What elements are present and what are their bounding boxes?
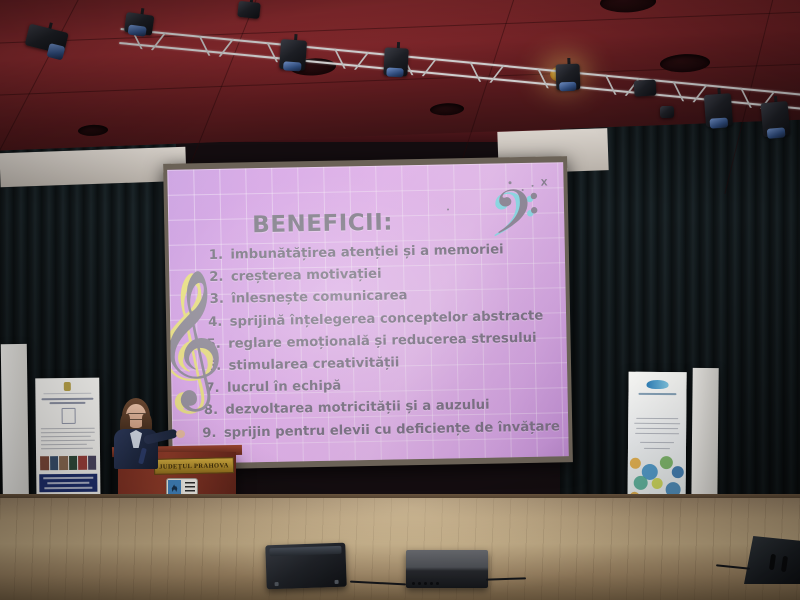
stage-light-fixture [660,100,676,114]
banner-circle-graphic [630,458,641,469]
stage-light-fixture [703,87,736,135]
banner-circle-graphic [672,466,684,478]
conference-hall-photo: BENEFICII: 1. imbunătățirea atenției și … [0,0,800,600]
banner-logo-icon [62,408,76,424]
stage-light-fixture [555,58,582,99]
banner-header-line-1 [41,398,93,400]
presenter-person [104,396,174,466]
banner-logo-icon [647,380,669,389]
stage-light-fixture [287,42,309,66]
stage-light-fixture [760,95,794,145]
stage-light-fixture [237,0,264,25]
stage-monitor-speaker [744,536,800,584]
stage-light-fixture [633,73,658,98]
slide-lighting-vignette [167,162,569,464]
amplifier-rack [406,550,488,588]
banner-logo-caption [638,393,676,395]
stage-light-fixture [123,6,157,44]
banner-circle-graphic [652,478,663,489]
banner-header-line-2 [49,402,85,404]
flipchart-panel-right [691,368,718,510]
banner-title-band [39,474,97,493]
banner-photo-strip [40,456,96,471]
stage-light-fixture [383,41,411,84]
banner-crest-icon [64,382,71,391]
wall-panel-upper-left [0,147,187,187]
projection-screen: BENEFICII: 1. imbunătățirea atenției și … [163,156,573,470]
presentation-slide: BENEFICII: 1. imbunătățirea atenției și … [167,162,569,464]
presenter-hand [176,430,185,438]
banner-circle-graphic [660,456,673,469]
banner-circle-graphic [634,476,648,490]
flight-case [265,543,346,590]
